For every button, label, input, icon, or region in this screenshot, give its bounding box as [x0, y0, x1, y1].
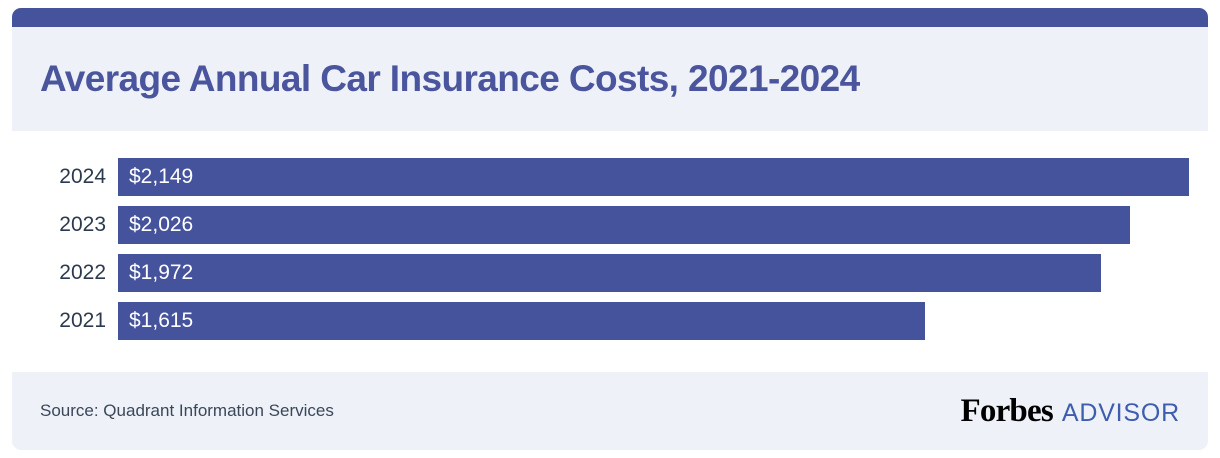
bar-fill: $1,615 [118, 302, 925, 340]
bar-value-label: $1,972 [118, 261, 193, 285]
bar-fill: $2,149 [118, 158, 1189, 196]
bar-category-label: 2021 [12, 302, 106, 340]
bar-value-label: $1,615 [118, 309, 193, 333]
bar-fill: $2,026 [118, 206, 1130, 244]
source-note: Source: Quadrant Information Services [12, 401, 334, 421]
bar-row: 2024 $2,149 [12, 158, 1208, 196]
chart-header: Average Annual Car Insurance Costs, 2021… [12, 27, 1208, 131]
bar-row: 2021 $1,615 [12, 302, 1208, 340]
bar-track: $1,615 [118, 302, 1208, 340]
bar-chart: 2024 $2,149 2023 $2,026 2022 $1,972 [12, 158, 1208, 350]
page-title: Average Annual Car Insurance Costs, 2021… [12, 58, 860, 100]
bar-row: 2023 $2,026 [12, 206, 1208, 244]
forbes-advisor-logo: Forbes ADVISOR [961, 393, 1208, 430]
bar-category-label: 2023 [12, 206, 106, 244]
top-accent-bar [12, 8, 1208, 27]
bar-track: $2,149 [118, 158, 1208, 196]
bar-track: $2,026 [118, 206, 1208, 244]
bar-fill: $1,972 [118, 254, 1101, 292]
bar-category-label: 2024 [12, 158, 106, 196]
bar-category-label: 2022 [12, 254, 106, 292]
advisor-wordmark: ADVISOR [1062, 399, 1180, 428]
bar-value-label: $2,149 [118, 165, 193, 189]
forbes-wordmark: Forbes [961, 393, 1053, 430]
bar-value-label: $2,026 [118, 213, 193, 237]
chart-footer: Source: Quadrant Information Services Fo… [12, 372, 1208, 450]
bar-row: 2022 $1,972 [12, 254, 1208, 292]
bar-track: $1,972 [118, 254, 1208, 292]
infographic-card: Average Annual Car Insurance Costs, 2021… [12, 8, 1208, 450]
